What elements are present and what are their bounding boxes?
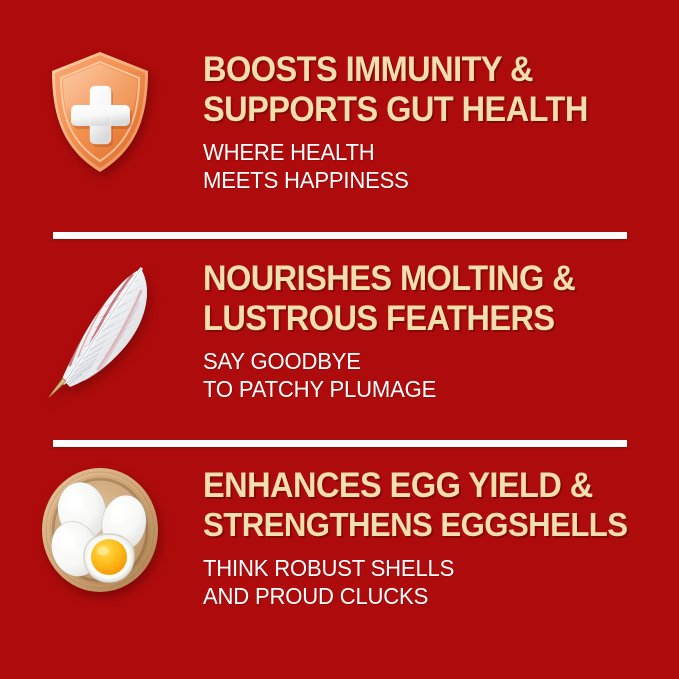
text-cell-immunity: BOOSTS IMMUNITY & SUPPORTS GUT HEALTH WH… xyxy=(200,48,679,194)
feature-headline-line1: NOURISHES MOLTING & xyxy=(203,259,646,299)
icon-cell-immunity xyxy=(0,48,200,176)
shield-plus-icon xyxy=(44,48,156,176)
icon-cell-eggs xyxy=(0,464,200,594)
feature-block-eggs: ENHANCES EGG YIELD & STRENGTHENS EGGSHEL… xyxy=(0,464,679,610)
feature-subline-line2: MEETS HAPPINESS xyxy=(203,166,660,194)
feature-block-immunity: BOOSTS IMMUNITY & SUPPORTS GUT HEALTH WH… xyxy=(0,48,679,194)
feature-headline-line1: ENHANCES EGG YIELD & xyxy=(203,466,646,506)
section-divider-1 xyxy=(53,232,627,239)
feature-block-feathers: NOURISHES MOLTING & LUSTROUS FEATHERS SA… xyxy=(0,257,679,403)
feature-subline-line1: SAY GOODBYE xyxy=(203,347,660,375)
feature-subline-line2: TO PATCHY PLUMAGE xyxy=(203,375,660,403)
feature-subline-line1: WHERE HEALTH xyxy=(203,138,660,166)
benefits-poster: BOOSTS IMMUNITY & SUPPORTS GUT HEALTH WH… xyxy=(0,0,679,679)
text-cell-eggs: ENHANCES EGG YIELD & STRENGTHENS EGGSHEL… xyxy=(200,464,679,610)
egg-bowl-icon xyxy=(35,464,165,594)
section-divider-2 xyxy=(53,440,627,447)
feature-headline-line2: STRENGTHENS EGGSHELLS xyxy=(203,506,646,546)
feature-subline-line2: AND PROUD CLUCKS xyxy=(203,582,660,610)
icon-cell-feathers xyxy=(0,257,200,402)
feather-icon xyxy=(40,257,160,402)
feature-headline-line2: LUSTROUS FEATHERS xyxy=(203,299,646,339)
feature-headline-line1: BOOSTS IMMUNITY & xyxy=(203,50,646,90)
feature-subline-line1: THINK ROBUST SHELLS xyxy=(203,554,660,582)
feature-headline-line2: SUPPORTS GUT HEALTH xyxy=(203,90,646,130)
text-cell-feathers: NOURISHES MOLTING & LUSTROUS FEATHERS SA… xyxy=(200,257,679,403)
